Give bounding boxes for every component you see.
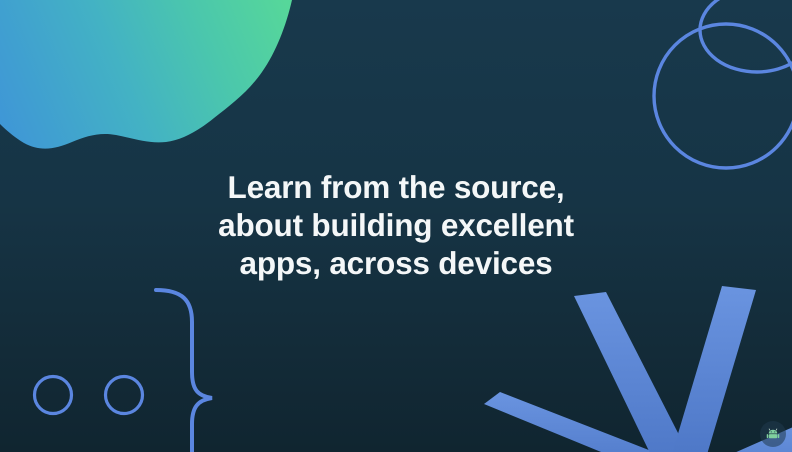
small-circle-left [35,377,72,414]
outline-circle-large [654,24,792,168]
small-circle-right [106,377,143,414]
bar-center-right [666,286,756,452]
android-robot-icon [760,421,786,447]
top-left-gradient-blob [0,0,292,149]
slide-canvas: Learn from the source, about building ex… [0,0,792,452]
curly-brace [156,290,212,452]
outline-circle-small [700,0,792,72]
page-title: Learn from the source, about building ex… [0,168,792,282]
